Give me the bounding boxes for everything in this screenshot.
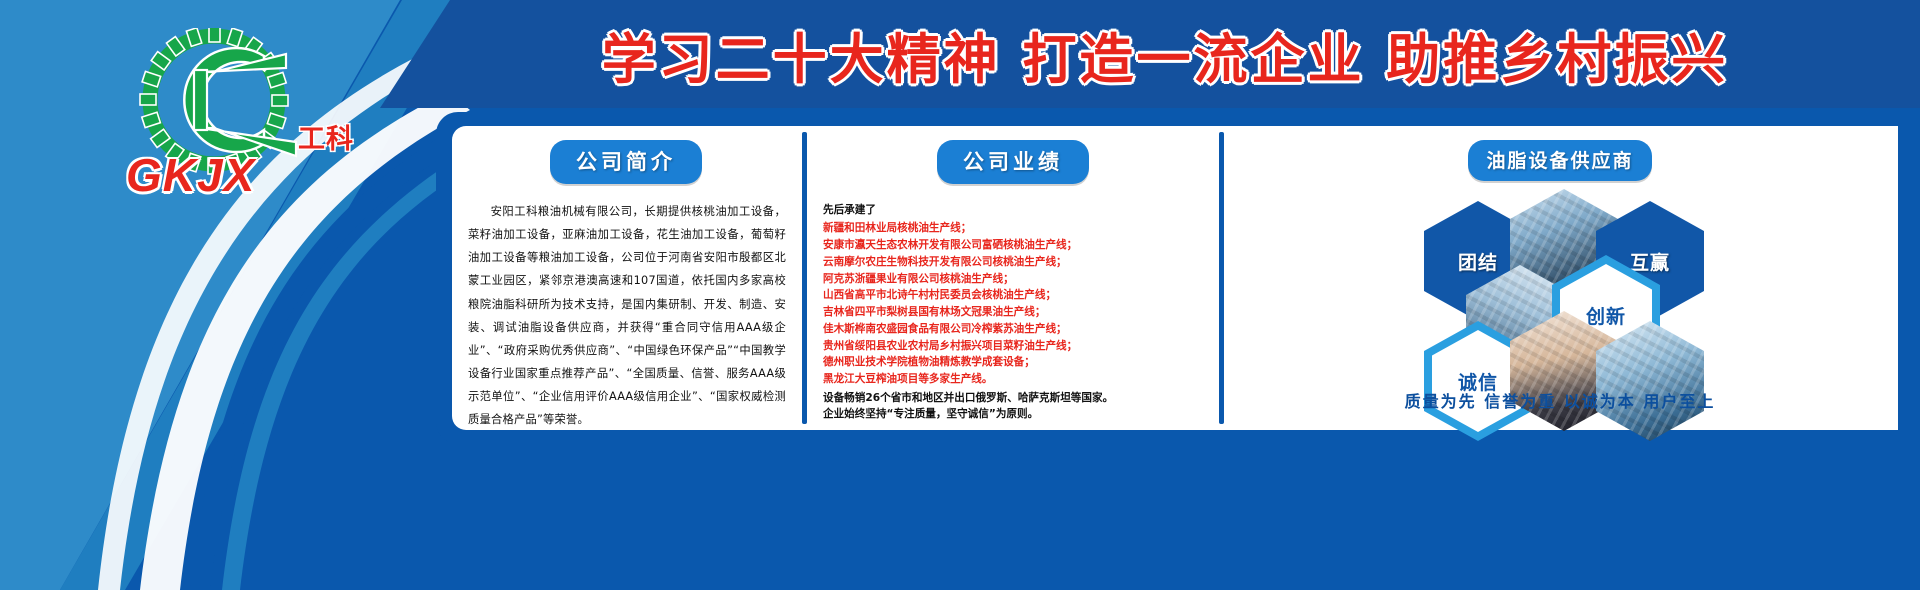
panel-divider-1 xyxy=(802,132,807,424)
project-line: 新疆和田林业局核桃油生产线； xyxy=(823,220,1213,237)
supplier-slogan: 质量为先 信誉为重 以诚为本 用户至上 xyxy=(1230,388,1890,412)
panel-oil-equipment-supplier: 油脂设备供应商 团结 互赢 创新 xyxy=(1230,130,1890,426)
performance-project-list: 新疆和田林业局核桃油生产线；安康市瀛天生态农林开发有限公司富硒核桃油生产线；云南… xyxy=(823,220,1213,387)
poster-board: 学习二十大精神 打造一流企业 助推乡村振兴 xyxy=(0,0,1920,590)
performance-note: 设备畅销26个省市和地区并出口俄罗斯、哈萨克斯坦等国家。 xyxy=(823,390,1213,407)
hexagon-cluster: 团结 互赢 创新 诚信 xyxy=(1370,193,1750,393)
panel-heading-company-intro: 公司简介 xyxy=(550,140,702,184)
project-line: 云南摩尔农庄生物科技开发有限公司核桃油生产线； xyxy=(823,254,1213,271)
project-line: 贵州省绥阳县农业农村局乡村振兴项目菜籽油生产线； xyxy=(823,338,1213,355)
performance-lead: 先后承建了 xyxy=(823,202,1213,218)
project-line: 安康市瀛天生态农林开发有限公司富硒核桃油生产线； xyxy=(823,237,1213,254)
company-intro-body: 安阳工科粮油机械有限公司，长期提供核桃油加工设备，菜籽油加工设备，亚麻油加工设备… xyxy=(468,200,786,432)
panel-divider-2 xyxy=(1219,132,1224,424)
project-line: 佳木斯桦南农盛园食品有限公司冷榨紫苏油生产线； xyxy=(823,321,1213,338)
panel-company-intro: 公司简介 安阳工科粮油机械有限公司，长期提供核桃油加工设备，菜籽油加工设备，亚麻… xyxy=(456,130,796,426)
panel-company-performance: 公司业绩 先后承建了 新疆和田林业局核桃油生产线；安康市瀛天生态农林开发有限公司… xyxy=(813,130,1213,426)
project-line: 吉林省四平市梨树县国有林场文冠果油生产线； xyxy=(823,304,1213,321)
project-line: 黑龙江大豆榨油项目等多家生产线。 xyxy=(823,371,1213,388)
project-line: 山西省高平市北诗午村村民委员会核桃油生产线； xyxy=(823,287,1213,304)
project-line: 阿克苏浙疆果业有限公司核桃油生产线； xyxy=(823,271,1213,288)
company-logo: 工科 GKJX xyxy=(120,28,350,208)
hexagon-innovation-label: 创新 xyxy=(1586,302,1626,329)
logo-chinese-text: 工科 xyxy=(298,117,354,156)
project-line: 德州职业技术学院植物油精炼教学成套设备； xyxy=(823,354,1213,371)
panel-heading-company-performance: 公司业绩 xyxy=(937,140,1089,184)
logo-english-text: GKJX xyxy=(126,148,255,202)
panel-heading-oil-equipment-supplier: 油脂设备供应商 xyxy=(1468,140,1651,181)
performance-tail-notes: 设备畅销26个省市和地区并出口俄罗斯、哈萨克斯坦等国家。企业始终坚持“专注质量，… xyxy=(823,390,1213,423)
page-title: 学习二十大精神 打造一流企业 助推乡村振兴 xyxy=(430,18,1900,90)
performance-note: 企业始终坚持“专注质量，坚守诚信”为原则。 xyxy=(823,406,1213,423)
panels-container: 公司简介 安阳工科粮油机械有限公司，长期提供核桃油加工设备，菜籽油加工设备，亚麻… xyxy=(456,130,1894,426)
